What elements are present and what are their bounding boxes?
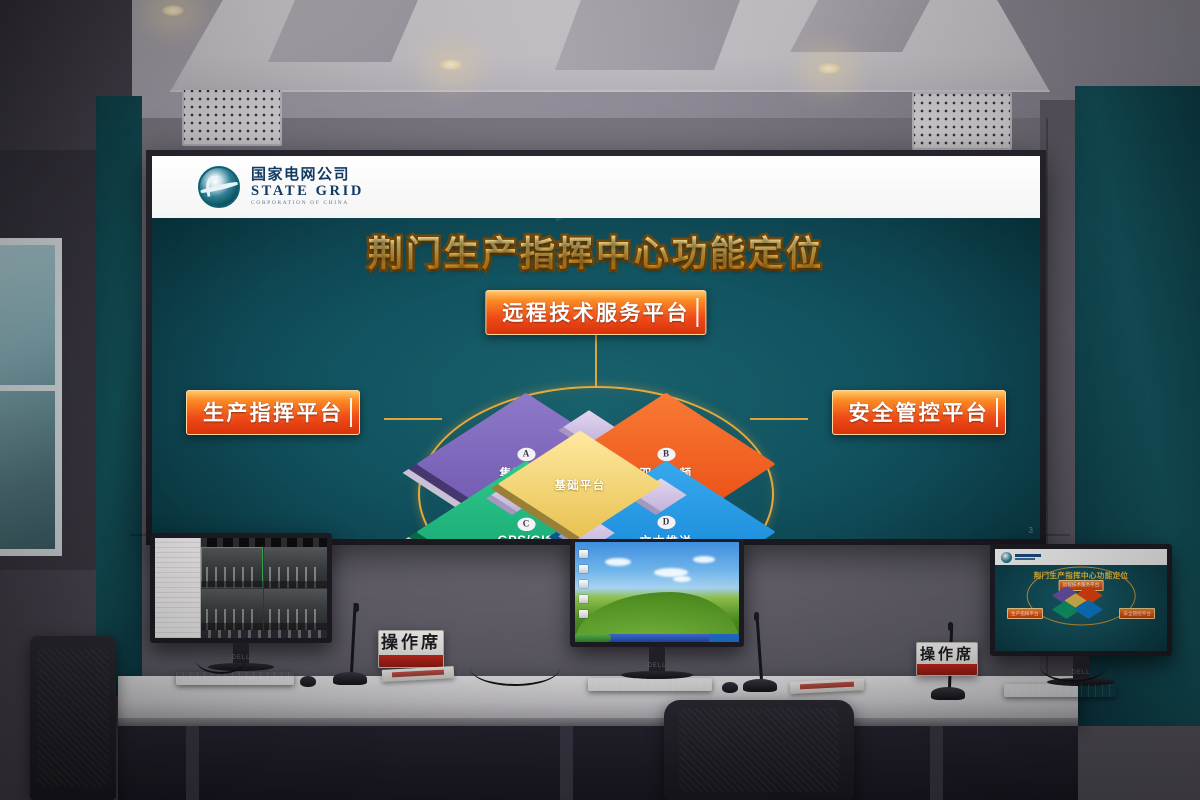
slide-page-number: 3 xyxy=(1029,526,1033,535)
placard-operator-left: 操作席 xyxy=(378,630,444,668)
state-grid-globe-logo xyxy=(198,166,240,208)
monitor-center-screen[interactable] xyxy=(570,537,744,647)
desktop-icon-5[interactable] xyxy=(579,610,588,618)
cctv-camera-pane-2[interactable] xyxy=(264,547,327,588)
mini-company-line-2 xyxy=(1015,558,1035,560)
speaker-grille-left xyxy=(182,88,282,146)
xp-start-button[interactable] xyxy=(575,634,611,642)
leader-line-left xyxy=(384,418,442,420)
presentation-slide: 国家电网公司 STATE GRID CORPORATION OF CHINA 荆… xyxy=(152,156,1040,539)
cable-right xyxy=(1040,650,1106,682)
cctv-toolbar[interactable] xyxy=(201,538,327,547)
cctv-camera-pane-3[interactable] xyxy=(201,589,264,630)
mini-company-line-1 xyxy=(1015,554,1041,557)
office-chair-center[interactable] xyxy=(664,700,854,800)
monitor-right[interactable]: 荆门生产指挥中心功能定位 远程技术服务平台 生产指挥平台 安全管控平台 DELL xyxy=(990,544,1172,656)
company-subtitle: CORPORATION OF CHINA xyxy=(251,201,364,207)
speaker-grille-right xyxy=(912,92,1012,150)
led-video-wall[interactable]: 国家电网公司 STATE GRID CORPORATION OF CHINA 荆… xyxy=(146,150,1046,545)
xp-cloud-3 xyxy=(693,556,715,563)
xp-cloud-1 xyxy=(605,558,631,566)
monitor-center-neck xyxy=(649,647,665,673)
placard-operator-right: 操作席 xyxy=(916,642,978,676)
desktop-icon-3[interactable] xyxy=(579,580,588,588)
control-room-photo: 国家电网公司 STATE GRID CORPORATION OF CHINA 荆… xyxy=(0,0,1200,800)
company-name-cn: 国家电网公司 xyxy=(251,167,364,182)
tile-c-badge: C xyxy=(517,517,535,530)
mouse-left[interactable] xyxy=(300,676,316,687)
monitor-center-brand: DELL xyxy=(647,663,666,669)
microphone-center-base xyxy=(743,679,777,692)
cctv-camera-grid[interactable] xyxy=(201,547,327,630)
microphone-left-head xyxy=(354,603,359,612)
microphone-left-base xyxy=(333,672,367,685)
microphone-left-gooseneck xyxy=(350,603,356,673)
mini-state-grid-logo xyxy=(1001,552,1012,563)
downlight-1 xyxy=(438,58,464,71)
desktop-icon-2[interactable] xyxy=(579,565,588,573)
microphone-center[interactable] xyxy=(740,612,780,692)
xp-cloud-4 xyxy=(673,576,691,582)
mini-platform-right: 安全管控平台 xyxy=(1119,608,1155,619)
xp-system-tray[interactable] xyxy=(709,634,739,642)
microphone-left[interactable] xyxy=(330,605,370,685)
monitor-left-screen[interactable] xyxy=(150,533,332,643)
teal-wall-panel-left xyxy=(96,96,142,696)
placard-right-red-band xyxy=(917,664,977,675)
microphone-center-head xyxy=(754,612,759,621)
desktop-icon-4[interactable] xyxy=(579,595,588,603)
slide-header: 国家电网公司 STATE GRID CORPORATION OF CHINA xyxy=(152,156,1040,218)
keyboard-right[interactable] xyxy=(1004,684,1116,697)
downlight-2 xyxy=(816,62,842,75)
desktop-icon-1[interactable] xyxy=(579,550,588,558)
mini-slide-header xyxy=(995,549,1167,565)
desk-leg-3 xyxy=(930,726,943,800)
cctv-camera-pane-4[interactable] xyxy=(264,589,327,630)
platform-label-left[interactable]: 生产指挥平台 xyxy=(186,390,360,435)
placard-right-text: 操作席 xyxy=(920,647,974,662)
mouse-center[interactable] xyxy=(722,682,738,693)
desk-leg-1 xyxy=(186,726,199,800)
mini-platform-left: 生产指挥平台 xyxy=(1007,608,1043,619)
placard-left-red-band xyxy=(379,655,443,667)
window-mullion xyxy=(0,385,62,391)
slide-title: 荆门生产指挥中心功能定位 xyxy=(152,226,1040,277)
window xyxy=(0,238,62,556)
office-chair-left[interactable] xyxy=(30,636,116,800)
cable-center xyxy=(470,650,560,686)
cctv-device-tree[interactable] xyxy=(155,538,201,638)
platform-label-top[interactable]: 远程技术服务平台 xyxy=(485,290,706,335)
downlight-3 xyxy=(160,4,186,17)
cctv-surveillance-grid[interactable] xyxy=(155,538,327,638)
tile-d-badge: D xyxy=(657,515,675,528)
desk-leg-2 xyxy=(560,726,573,800)
ceiling-recess-2 xyxy=(555,0,740,70)
company-name-en: STATE GRID xyxy=(251,184,364,199)
slide-body: 荆门生产指挥中心功能定位 荆门生产指挥中心功能定位 远程技术服务平台 生产指挥平… xyxy=(152,218,1040,539)
keyboard-left[interactable] xyxy=(176,672,294,685)
windows-xp-desktop[interactable] xyxy=(575,542,739,642)
platform-label-right[interactable]: 安全管控平台 xyxy=(832,390,1006,435)
cable-left xyxy=(196,646,246,674)
monitor-center[interactable]: DELL xyxy=(570,537,744,647)
tile-b-badge: B xyxy=(657,447,675,460)
placard-left-text: 操作席 xyxy=(381,635,441,652)
presentation-slide-mirror[interactable]: 荆门生产指挥中心功能定位 远程技术服务平台 生产指挥平台 安全管控平台 xyxy=(995,549,1167,651)
isometric-tile-diagram: A 集群语音 B 双向视频 C xyxy=(446,406,746,539)
monitor-right-screen[interactable]: 荆门生产指挥中心功能定位 远程技术服务平台 生产指挥平台 安全管控平台 xyxy=(990,544,1172,656)
microphone-center-gooseneck xyxy=(755,614,762,680)
cctv-playback-bar[interactable] xyxy=(201,630,327,638)
tile-a-badge: A xyxy=(517,447,535,460)
tile-d-label: 文本推送 xyxy=(639,531,692,539)
mini-tile-diagram xyxy=(1058,587,1104,617)
tile-core-label: 基础平台 xyxy=(554,476,605,492)
keyboard-center[interactable] xyxy=(588,678,712,691)
cctv-camera-pane-1[interactable] xyxy=(201,547,264,588)
microphone-right-head xyxy=(948,622,953,631)
monitor-left[interactable]: DELL xyxy=(150,533,332,643)
leader-line-right xyxy=(750,418,808,420)
microphone-right-base xyxy=(931,687,965,700)
